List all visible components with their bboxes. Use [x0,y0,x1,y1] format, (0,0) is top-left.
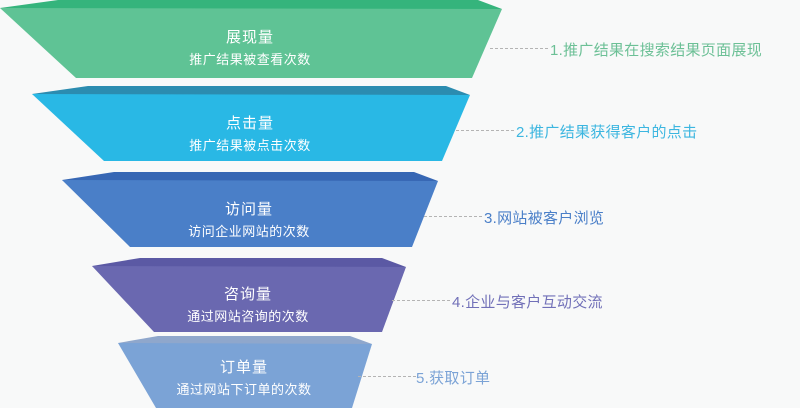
funnel-stage-3-front-face [62,180,438,247]
funnel-stage-3-shape [62,172,522,254]
funnel-stage-5-front-face [118,343,372,408]
funnel-stage-1-shape [0,0,540,86]
funnel-stage-2-label: 2.推广结果获得客户的点击 [516,121,697,142]
funnel-diagram: 展现量 推广结果被查看次数 1.推广结果在搜索结果页面展现 点击量 推广结果被点… [0,0,800,408]
funnel-stage-4-label: 4.企业与客户互动交流 [452,291,603,312]
funnel-stage-1-connector [490,48,548,49]
funnel-stage-2-connector [456,130,514,131]
funnel-stage-4-shape [92,258,512,338]
funnel-stage-3-label: 3.网站被客户浏览 [484,207,604,228]
funnel-stage-2-shape [32,86,532,168]
funnel-stage-4-front-face [92,266,406,332]
funnel-stage-5-label: 5.获取订单 [416,367,490,388]
funnel-stage-3-connector [424,216,482,217]
funnel-stage-5-connector [358,376,416,377]
funnel-stage-2-front-face [32,94,470,161]
funnel-stage-1-label: 1.推广结果在搜索结果页面展现 [550,39,762,60]
funnel-stage-1-front-face [0,8,502,78]
funnel-stage-4-connector [392,300,450,301]
